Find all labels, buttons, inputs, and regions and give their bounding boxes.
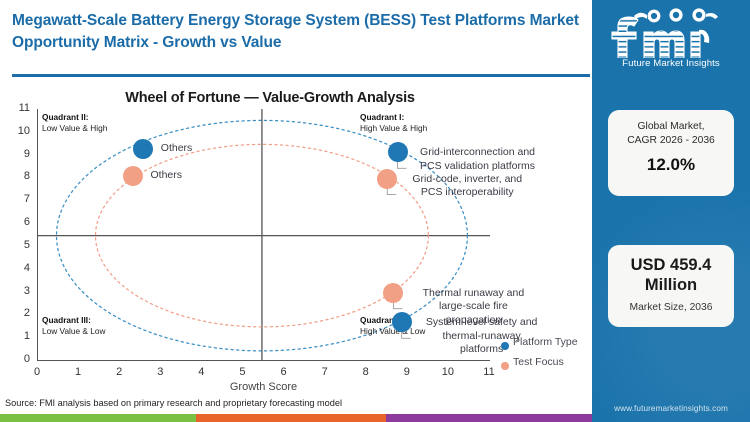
bubble-label-test-focus-0: Others (151, 169, 183, 182)
y-tick-2: 2 (4, 307, 30, 319)
fmi-logo-tagline: Future Market Insights (606, 58, 736, 69)
y-tick-5: 5 (4, 239, 30, 251)
bubble-platform-type-0[interactable] (133, 139, 153, 159)
quadrant-head-q1: Quadrant I: (360, 112, 404, 122)
website-url: www.futuremarketinsights.com (592, 404, 750, 413)
quadrant-sub-q2: Low Value & High (42, 123, 107, 133)
legend-dot-icon (501, 362, 509, 370)
bubble-test-focus-2[interactable] (383, 283, 403, 303)
market-size-value-line1: USD 459.4 (608, 255, 734, 275)
legend-dot-icon (501, 342, 509, 350)
bottom-bar-segment-2 (386, 414, 592, 422)
legend-label: Test Focus (513, 356, 564, 368)
infographic-root: Megawatt-Scale Battery Energy Storage Sy… (0, 0, 750, 422)
cagr-card: Global Market, CAGR 2026 - 2036 12.0% (608, 110, 734, 196)
legend-item-platform-type[interactable]: Platform Type (497, 336, 592, 356)
chart-legend: Platform TypeTest Focus (497, 336, 592, 376)
cagr-card-value: 12.0% (608, 155, 734, 175)
bubble-test-focus-0[interactable] (123, 166, 143, 186)
legend-label: Platform Type (513, 336, 578, 348)
x-tick-7: 7 (313, 366, 337, 378)
title-divider (12, 74, 590, 77)
page-title: Megawatt-Scale Battery Energy Storage Sy… (12, 10, 582, 55)
bubble-label-test-focus-2: Thermal runaway and large-scale fire pro… (413, 287, 533, 327)
legend-item-test-focus[interactable]: Test Focus (497, 356, 592, 376)
y-tick-9: 9 (4, 148, 30, 160)
bubble-test-focus-1[interactable] (377, 169, 397, 189)
bottom-color-bar (0, 414, 592, 422)
plot-area: Quadrant II:Low Value & HighQuadrant I:H… (37, 109, 490, 361)
quadrant-head-q2: Quadrant II: (42, 112, 89, 122)
bubble-label-platform-type-1: Grid-interconnection and PCS validation … (418, 146, 538, 173)
bottom-bar-segment-1 (196, 414, 386, 422)
x-tick-1: 1 (66, 366, 90, 378)
cagr-card-line1: Global Market, (608, 120, 734, 134)
bubble-platform-type-2[interactable] (392, 312, 412, 332)
x-tick-8: 8 (354, 366, 378, 378)
y-tick-6: 6 (4, 216, 30, 228)
y-tick-1: 1 (4, 330, 30, 342)
x-tick-0: 0 (25, 366, 49, 378)
x-tick-3: 3 (148, 366, 172, 378)
bubble-label-platform-type-0: Others (161, 142, 193, 155)
y-tick-11: 11 (4, 102, 30, 114)
y-tick-7: 7 (4, 193, 30, 205)
chart-panel: Megawatt-Scale Battery Energy Storage Sy… (0, 0, 592, 422)
market-size-caption: Market Size, 2036 (608, 301, 734, 315)
quadrant-sub-q3: Low Value & Low (42, 326, 106, 336)
y-tick-8: 8 (4, 170, 30, 182)
x-tick-4: 4 (189, 366, 213, 378)
quadrant-head-q3: Quadrant III: (42, 315, 91, 325)
y-tick-3: 3 (4, 285, 30, 297)
x-tick-10: 10 (436, 366, 460, 378)
bubble-platform-type-1[interactable] (388, 142, 408, 162)
market-size-card: USD 459.4 Million Market Size, 2036 (608, 245, 734, 327)
x-tick-2: 2 (107, 366, 131, 378)
x-tick-6: 6 (272, 366, 296, 378)
market-size-value-line2: Million (608, 275, 734, 295)
fmi-logo-mark (606, 6, 736, 58)
fmi-logo: Future Market Insights (606, 6, 736, 78)
x-tick-5: 5 (230, 366, 254, 378)
page-title-block: Megawatt-Scale Battery Energy Storage Sy… (12, 10, 582, 55)
cagr-card-line2: CAGR 2026 - 2036 (608, 134, 734, 148)
x-tick-9: 9 (395, 366, 419, 378)
y-tick-4: 4 (4, 262, 30, 274)
quadrant-sub-q1: High Value & High (360, 123, 427, 133)
source-note: Source: FMI analysis based on primary re… (5, 398, 342, 408)
x-axis-label: Growth Score (37, 381, 490, 393)
bubble-label-test-focus-1: Grid-code, inverter, and PCS interoperab… (407, 173, 527, 200)
bottom-bar-segment-0 (0, 414, 196, 422)
sidebar: Future Market Insights Global Market, CA… (592, 0, 750, 422)
plot-wrapper: Value Score Growth Score 01234567891011 … (0, 104, 592, 394)
y-tick-10: 10 (4, 125, 30, 137)
y-tick-0: 0 (4, 353, 30, 365)
